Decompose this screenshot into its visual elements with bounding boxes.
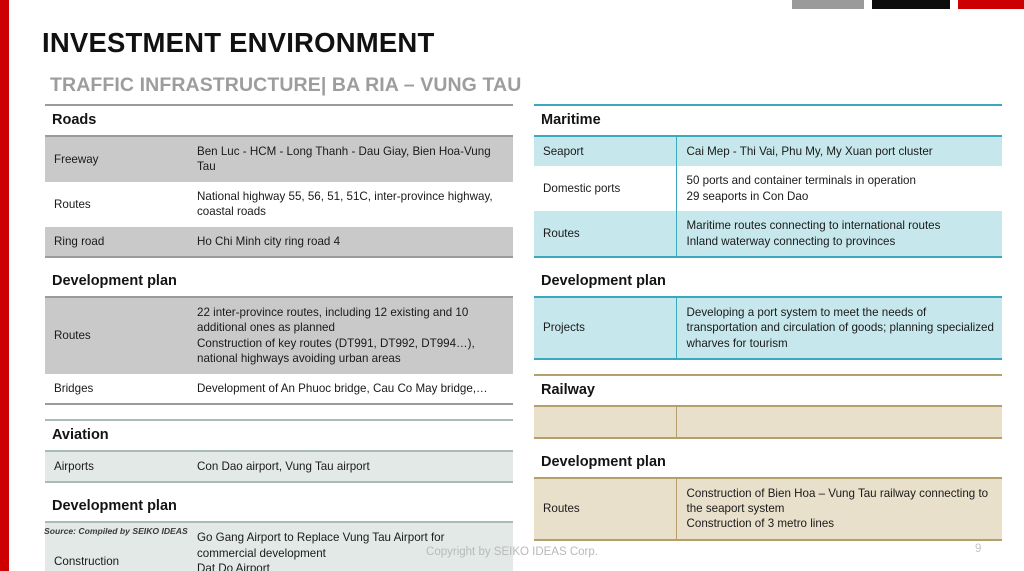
row-value: Developing a port system to meet the nee… xyxy=(676,298,1002,359)
table-row: Routes22 inter-province routes, includin… xyxy=(45,298,513,374)
topbar-black-block xyxy=(872,0,950,9)
row-key: Routes xyxy=(534,211,676,257)
section-maritime-development-plan: Development plan ProjectsDeveloping a po… xyxy=(534,267,1002,360)
row-value xyxy=(676,407,1002,437)
section-heading-maritime-plan: Development plan xyxy=(534,267,1002,298)
copyright-notice: Copyright by SEIKO IDEAS Corp. xyxy=(0,546,1024,558)
row-value: Development of An Phuoc bridge, Cau Co M… xyxy=(187,374,513,404)
row-value: Maritime routes connecting to internatio… xyxy=(676,211,1002,257)
row-value: Cai Mep - Thi Vai, Phu My, My Xuan port … xyxy=(676,137,1002,166)
row-key xyxy=(534,407,676,437)
spacer xyxy=(534,258,1002,267)
spacer xyxy=(45,405,513,419)
section-heading-roads: Roads xyxy=(45,104,513,137)
spacer xyxy=(45,258,513,267)
section-roads: Roads FreewayBen Luc - HCM - Long Thanh … xyxy=(45,104,513,258)
table-row: RoutesConstruction of Bien Hoa – Vung Ta… xyxy=(534,479,1002,540)
row-value: 50 ports and container terminals in oper… xyxy=(676,166,1002,211)
section-heading-railway: Railway xyxy=(534,374,1002,407)
row-value: Ho Chi Minh city ring road 4 xyxy=(187,227,513,257)
source-note: Source: Compiled by SEIKO IDEAS xyxy=(44,526,188,536)
section-roads-development-plan: Development plan Routes22 inter-province… xyxy=(45,267,513,405)
row-key: Freeway xyxy=(45,137,187,182)
table-row: FreewayBen Luc - HCM - Long Thanh - Dau … xyxy=(45,137,513,182)
left-accent-bar xyxy=(0,0,9,571)
row-key: Ring road xyxy=(45,227,187,257)
table-row: RoutesMaritime routes connecting to inte… xyxy=(534,211,1002,257)
row-value: Construction of Bien Hoa – Vung Tau rail… xyxy=(676,479,1002,540)
section-heading-aviation: Aviation xyxy=(45,419,513,452)
page-title: INVESTMENT ENVIRONMENT xyxy=(42,27,434,59)
right-column: Maritime SeaportCai Mep - Thi Vai, Phu M… xyxy=(534,104,1002,541)
section-railway: Railway xyxy=(534,374,1002,438)
row-value: 22 inter-province routes, including 12 e… xyxy=(187,298,513,374)
row-key: Routes xyxy=(45,298,187,374)
table-maritime: SeaportCai Mep - Thi Vai, Phu My, My Xua… xyxy=(534,137,1002,258)
section-heading-aviation-plan: Development plan xyxy=(45,492,513,523)
row-value: National highway 55, 56, 51, 51C, inter-… xyxy=(187,182,513,227)
topbar-gray-block xyxy=(792,0,864,9)
section-heading-roads-plan: Development plan xyxy=(45,267,513,298)
row-key: Bridges xyxy=(45,374,187,404)
row-key: Airports xyxy=(45,452,187,482)
table-maritime-plan: ProjectsDeveloping a port system to meet… xyxy=(534,298,1002,360)
section-aviation: Aviation AirportsCon Dao airport, Vung T… xyxy=(45,419,513,483)
row-value: Con Dao airport, Vung Tau airport xyxy=(187,452,513,482)
row-value: Ben Luc - HCM - Long Thanh - Dau Giay, B… xyxy=(187,137,513,182)
row-key: Domestic ports xyxy=(534,166,676,211)
table-aviation: AirportsCon Dao airport, Vung Tau airpor… xyxy=(45,452,513,483)
table-row: Domestic ports50 ports and container ter… xyxy=(534,166,1002,211)
table-row: BridgesDevelopment of An Phuoc bridge, C… xyxy=(45,374,513,404)
row-key: Routes xyxy=(534,479,676,540)
row-key: Routes xyxy=(45,182,187,227)
table-row: Ring roadHo Chi Minh city ring road 4 xyxy=(45,227,513,257)
table-railway-plan: RoutesConstruction of Bien Hoa – Vung Ta… xyxy=(534,479,1002,541)
topbar-red-block xyxy=(958,0,1024,9)
section-maritime: Maritime SeaportCai Mep - Thi Vai, Phu M… xyxy=(534,104,1002,258)
spacer xyxy=(45,483,513,492)
left-column: Roads FreewayBen Luc - HCM - Long Thanh … xyxy=(45,104,513,571)
section-heading-maritime: Maritime xyxy=(534,104,1002,137)
row-key: Seaport xyxy=(534,137,676,166)
row-key: Projects xyxy=(534,298,676,359)
table-row: RoutesNational highway 55, 56, 51, 51C, … xyxy=(45,182,513,227)
page-subtitle: TRAFFIC INFRASTRUCTURE| BA RIA – VUNG TA… xyxy=(50,74,521,97)
table-roads: FreewayBen Luc - HCM - Long Thanh - Dau … xyxy=(45,137,513,258)
spacer xyxy=(534,360,1002,374)
table-railway xyxy=(534,407,1002,438)
page-number: 9 xyxy=(975,543,981,555)
spacer xyxy=(534,439,1002,448)
table-row: SeaportCai Mep - Thi Vai, Phu My, My Xua… xyxy=(534,137,1002,166)
section-heading-railway-plan: Development plan xyxy=(534,448,1002,479)
slide-canvas: INVESTMENT ENVIRONMENT TRAFFIC INFRASTRU… xyxy=(0,0,1024,571)
table-row: AirportsCon Dao airport, Vung Tau airpor… xyxy=(45,452,513,482)
table-roads-plan: Routes22 inter-province routes, includin… xyxy=(45,298,513,405)
table-row: ProjectsDeveloping a port system to meet… xyxy=(534,298,1002,359)
table-row xyxy=(534,407,1002,437)
section-railway-development-plan: Development plan RoutesConstruction of B… xyxy=(534,448,1002,541)
